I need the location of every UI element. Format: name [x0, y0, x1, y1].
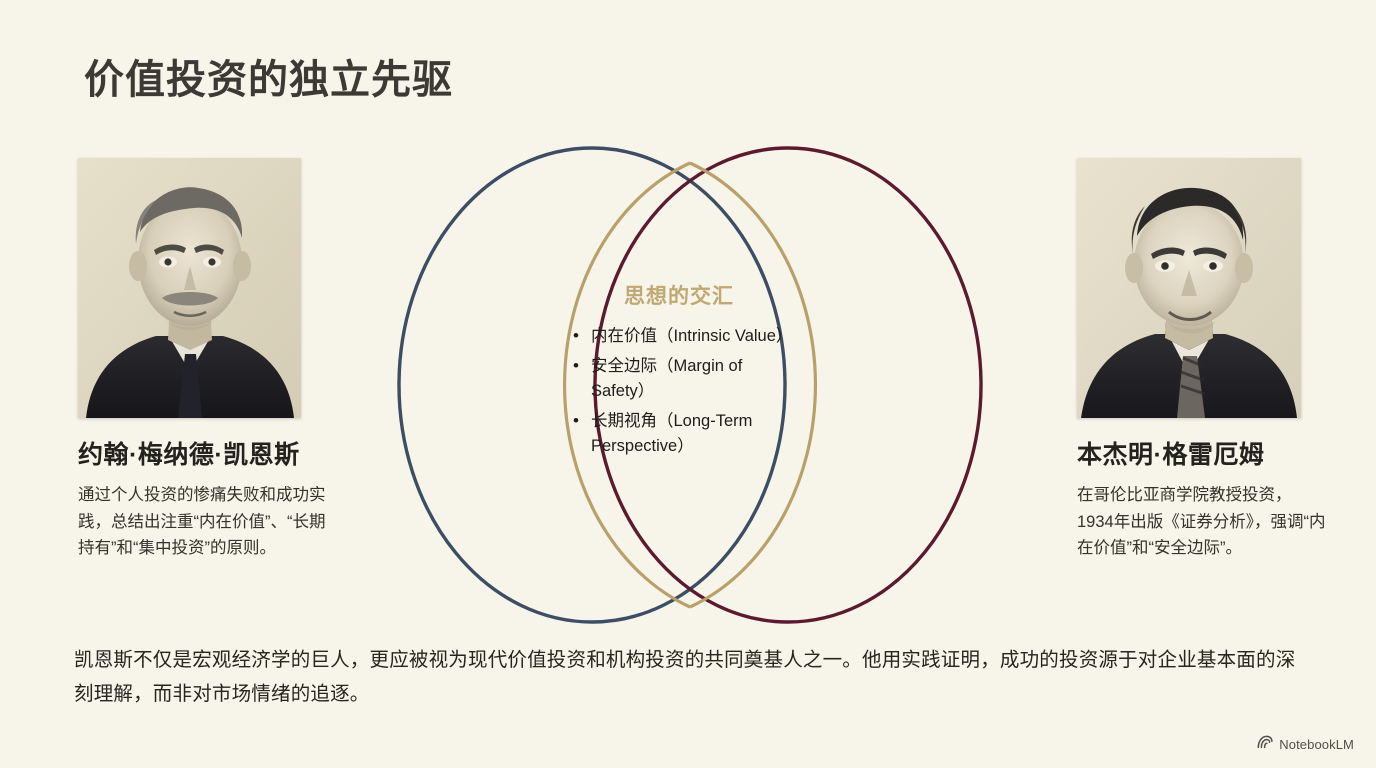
- venn-intersection-content: 思想的交汇 内在价值（Intrinsic Value） 安全边际（Margin …: [570, 280, 788, 464]
- intersection-title: 思想的交汇: [570, 280, 788, 310]
- notebooklm-watermark: NotebookLM: [1257, 735, 1354, 754]
- slide-canvas: 价值投资的独立先驱: [0, 0, 1376, 768]
- portrait-keynes: [78, 158, 301, 418]
- intersection-bullet-list: 内在价值（Intrinsic Value） 安全边际（Margin of Saf…: [570, 324, 788, 459]
- person-name-keynes: 约翰·梅纳德·凯恩斯: [78, 440, 323, 470]
- portrait-keynes-image: [78, 158, 301, 418]
- notebooklm-glyph: [1257, 735, 1273, 749]
- summary-paragraph: 凯恩斯不仅是宏观经济学的巨人，更应被视为现代价值投资和机构投资的共同奠基人之一。…: [74, 644, 1306, 711]
- intersection-bullet: 长期视角（Long-Term Perspective）: [570, 409, 788, 459]
- intersection-bullet: 安全边际（Margin of Safety）: [570, 354, 788, 404]
- notebooklm-icon: [1257, 735, 1273, 754]
- person-card-left: 约翰·梅纳德·凯恩斯 通过个人投资的惨痛失败和成功实践，总结出注重“内在价值”、…: [78, 158, 323, 562]
- person-name-graham: 本杰明·格雷厄姆: [1077, 440, 1322, 470]
- person-description-graham: 在哥伦比亚商学院教授投资，1934年出版《证券分析》，强调“内在价值”和“安全边…: [1077, 482, 1327, 562]
- intersection-bullet: 内在价值（Intrinsic Value）: [570, 324, 788, 349]
- page-title: 价值投资的独立先驱: [84, 56, 453, 104]
- portrait-graham-image: [1077, 158, 1301, 418]
- person-description-keynes: 通过个人投资的惨痛失败和成功实践，总结出注重“内在价值”、“长期持有”和“集中投…: [78, 482, 328, 562]
- person-card-right: 本杰明·格雷厄姆 在哥伦比亚商学院教授投资，1934年出版《证券分析》，强调“内…: [1077, 158, 1322, 562]
- venn-diagram: 思想的交汇 内在价值（Intrinsic Value） 安全边际（Margin …: [340, 140, 1040, 630]
- notebooklm-label: NotebookLM: [1279, 737, 1354, 752]
- portrait-graham: [1077, 158, 1301, 418]
